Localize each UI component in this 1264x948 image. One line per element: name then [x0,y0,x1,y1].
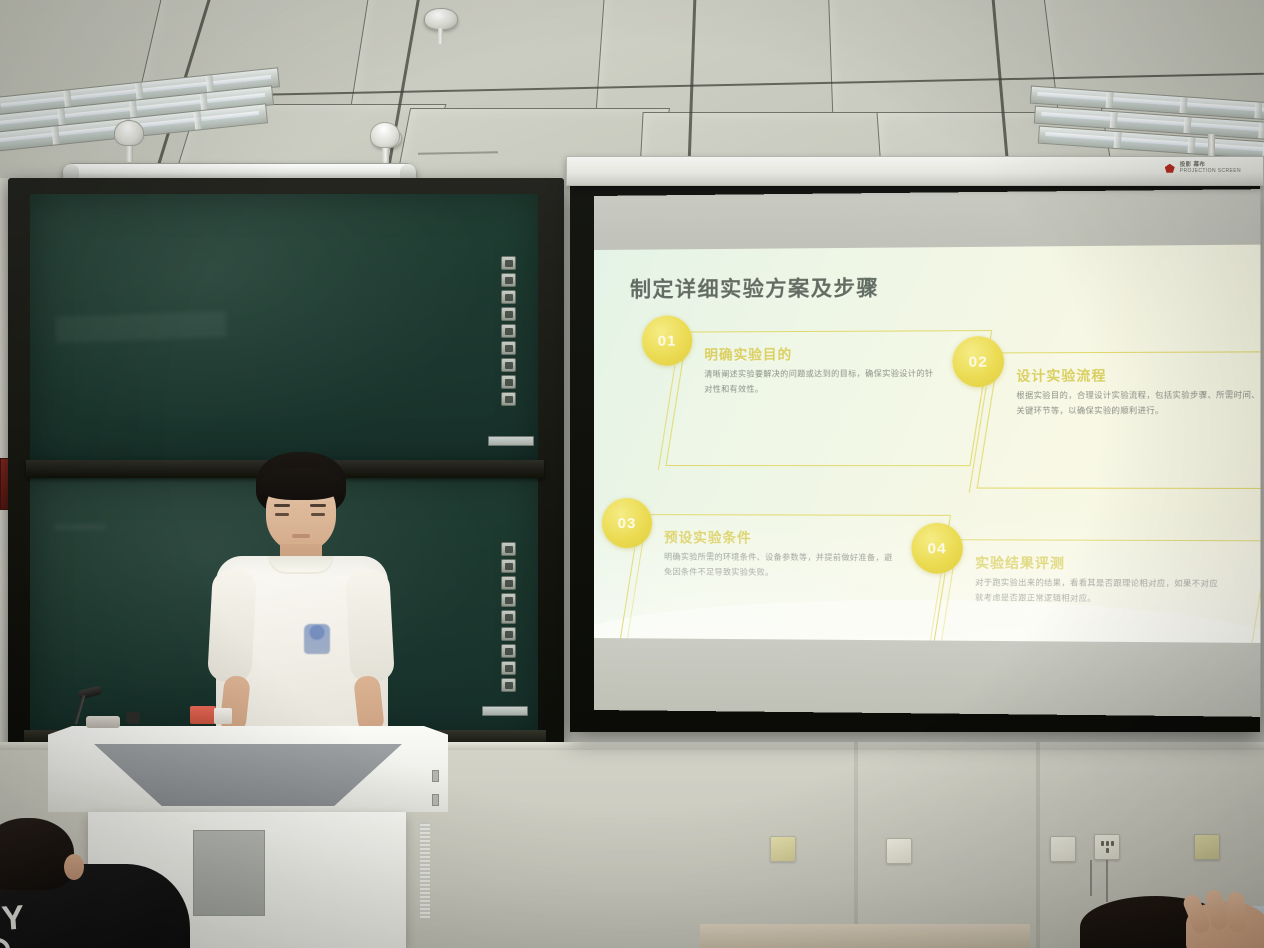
wall-switch[interactable] [1050,836,1076,862]
presenter-sleeve-right [345,569,395,683]
whiteboard-toolbar-bottom[interactable] [501,542,516,692]
projector-screen-frame: 制定详细实验方案及步骤 01 明确实验目的 清晰阐述实验要解决的问题或达到的目标… [570,184,1260,732]
tool-power-icon[interactable] [501,627,516,641]
tool-flash-icon[interactable] [501,375,516,389]
tool-power-alt-icon[interactable] [501,644,516,658]
slide-title: 制定详细实验方案及步骤 [630,272,879,304]
card-heading: 预设实验条件 [664,526,752,546]
seated-audience-left: PY [0,826,206,948]
presenter-mouth [292,534,310,538]
card-number-badge: 03 [602,498,652,548]
wall-seam [1036,742,1040,948]
presenter-shirt-graphic [304,624,330,654]
presenter-brow [274,504,290,507]
card-number-badge: 04 [911,523,962,574]
presenter-sleeve-left [207,569,257,683]
screen-brand-sub: PROJECTION SCREEN [1180,168,1241,174]
slide-card-01: 01 明确实验目的 清晰阐述实验要解决的问题或达到的目标，确保实验设计的针对性和… [676,330,981,466]
desk-object-white [214,708,232,724]
desk-object-dark [126,712,140,724]
tool-eraser-icon[interactable] [501,290,516,304]
presenter-eye [275,513,289,516]
tool-play-icon[interactable] [501,324,516,338]
light-canopy [114,120,144,146]
detector-stem [438,28,443,44]
tool-pen-icon[interactable] [501,542,516,556]
lectern-hinge [432,770,439,782]
card-heading: 明确实验目的 [704,343,792,363]
card-body-text: 清晰阐述实验要解决的问题或达到的目标，确保实验设计的针对性和有效性。 [704,367,940,398]
card-number-badge: 01 [642,315,692,365]
audience-left-ear [64,854,84,880]
screen-brand-logo: 投影 幕布 PROJECTION SCREEN [1165,163,1241,174]
whiteboard-toolbar-top[interactable] [501,256,516,406]
card-body-text: 对于跑实验出来的结果，看看其是否跟理论相对应，如果不对应就考虑是否跟正常逻辑相对… [975,576,1222,608]
tool-cursor-icon[interactable] [501,273,516,287]
board-label [488,436,534,446]
card-body-text: 根据实验目的，合理设计实验流程，包括实验步骤、所需时间、关键环节等，以确保实验的… [1016,388,1260,419]
tool-pen-icon[interactable] [501,256,516,270]
tool-grid-icon[interactable] [501,392,516,406]
tool-play-icon[interactable] [501,610,516,624]
audience-right-finger [1227,891,1247,932]
presenter-at-podium [200,452,400,742]
lectern-hinge [432,794,439,806]
tool-volume-icon[interactable] [501,307,516,321]
tool-volume-icon[interactable] [501,593,516,607]
presenter-fringe [258,468,344,500]
smoke-detector-icon [424,8,458,30]
lectern-vent [420,822,430,918]
wall-switch[interactable] [1194,834,1220,860]
tool-cursor-icon[interactable] [501,559,516,573]
card-heading: 设计实验流程 [1016,364,1106,385]
light-canopy [370,122,400,148]
presenter-eye [311,513,325,516]
wall-switch[interactable] [886,838,912,864]
socket-holes [1099,840,1115,854]
student-desk [700,924,1030,948]
tool-eraser-icon[interactable] [501,576,516,590]
audience-left-shirt-text: PY [0,902,26,936]
tool-power-alt-icon[interactable] [501,358,516,372]
seated-audience-right [1060,886,1264,948]
presenter-brow [310,504,326,507]
card-number-badge: 02 [953,336,1004,387]
desk-object-red [190,706,216,724]
brand-mark-icon [1165,164,1175,173]
projector-screen-housing: 投影 幕布 PROJECTION SCREEN [566,156,1264,186]
screen-unlit-bottom [594,638,1260,717]
projector-screen-surface: 制定详细实验方案及步骤 01 明确实验目的 清晰阐述实验要解决的问题或达到的目标… [594,189,1260,717]
slide-card-03: 03 预设实验条件 明确实验所需的环境条件、设备参数等，并提前做好准备，避免因条… [636,514,940,643]
screen-brand-text: 投影 幕布 PROJECTION SCREEN [1180,163,1241,174]
tool-grid-icon[interactable] [501,678,516,692]
projected-slide: 制定详细实验方案及步骤 01 明确实验目的 清晰阐述实验要解决的问题或达到的目标… [594,245,1260,643]
slide-card-04: 04 实验结果评测 对于跑实验出来的结果，看看其是否跟理论相对应，如果不对应就考… [946,539,1258,643]
audience-left-head [0,818,74,890]
chalk-smudge [54,524,106,530]
wall-seam [854,742,858,948]
microphone-base [86,716,120,728]
classroom-photo: 投影 幕布 PROJECTION SCREEN 制定详细实验方案及步骤 01 明… [0,0,1264,948]
presenter-collar [268,556,334,574]
wall-switch[interactable] [770,836,796,862]
tool-power-icon[interactable] [501,341,516,355]
slide-card-02: 02 设计实验流程 根据实验目的，合理设计实验流程，包括实验步骤、所需时间、关键… [987,351,1260,489]
board-label [482,706,528,716]
card-body-text: 明确实验所需的环境条件、设备参数等，并提前做好准备，避免因条件不足导致实验失败。 [664,550,899,581]
card-heading: 实验结果评测 [975,551,1065,572]
screen-unlit-top [594,189,1260,250]
wall-socket[interactable] [1094,834,1120,860]
tool-flash-icon[interactable] [501,661,516,675]
